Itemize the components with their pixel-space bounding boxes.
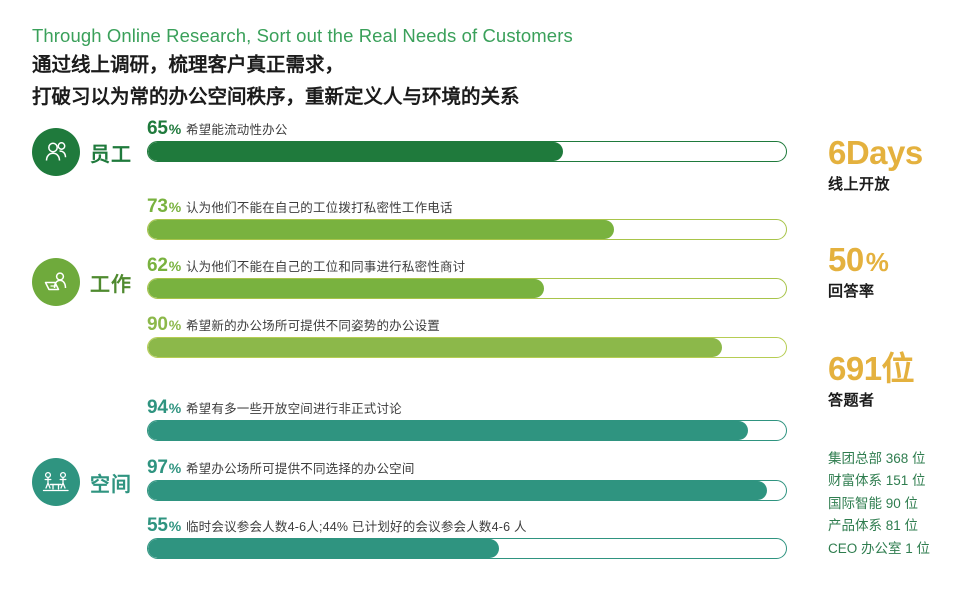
list-item: 国际智能 90 位	[828, 493, 930, 515]
list-item: 集团总部 368 位	[828, 448, 930, 470]
bar-row: 90% 希望新的办公场所可提供不同姿势的办公设置	[147, 314, 787, 358]
category-label-space: 空间	[90, 468, 132, 497]
bar-track	[147, 337, 787, 358]
category-label-employee: 员工	[90, 138, 132, 167]
bar-fill	[148, 220, 614, 239]
respondent-breakdown-list: 集团总部 368 位 财富体系 151 位 国际智能 90 位 产品体系 81 …	[828, 448, 930, 560]
desk-person-icon	[42, 268, 70, 296]
bar-percent: 97%	[147, 457, 181, 479]
bar-caption: 90% 希望新的办公场所可提供不同姿势的办公设置	[147, 314, 787, 334]
bar-percent: 94%	[147, 397, 181, 419]
bar-track	[147, 278, 787, 299]
bar-description: 临时会议参会人数4-6人;44% 已计划好的会议参会人数4-6 人	[186, 516, 527, 535]
bar-row: 65% 希望能流动性办公	[147, 118, 787, 162]
bar-row: 94% 希望有多一些开放空间进行非正式讨论	[147, 397, 787, 441]
chinese-title-line2: 打破习以为常的办公空间秩序，重新定义人与环境的关系	[32, 84, 752, 112]
category-space: 空间	[32, 458, 132, 506]
bar-track	[147, 219, 787, 240]
list-item: 财富体系 151 位	[828, 470, 930, 492]
list-item: 产品体系 81 位	[828, 515, 930, 537]
category-employee: 员工	[32, 128, 132, 176]
bar-description: 认为他们不能在自己的工位和同事进行私密性商讨	[186, 256, 465, 275]
bar-description: 认为他们不能在自己的工位拨打私密性工作电话	[186, 197, 453, 216]
bar-caption: 94% 希望有多一些开放空间进行非正式讨论	[147, 397, 787, 417]
english-title: Through Online Research, Sort out the Re…	[32, 24, 752, 48]
stat-days: 6Days 线上开放	[828, 136, 923, 194]
bar-row: 97% 希望办公场所可提供不同选择的办公空间	[147, 457, 787, 501]
bar-description: 希望办公场所可提供不同选择的办公空间	[186, 458, 415, 477]
page-header: Through Online Research, Sort out the Re…	[32, 24, 752, 111]
category-work: 工作	[32, 258, 132, 306]
stat-response-rate: 50% 回答率	[828, 243, 888, 301]
category-icon-circle	[32, 258, 80, 306]
bar-fill	[148, 421, 748, 440]
list-item: CEO 办公室 1 位	[828, 538, 930, 560]
category-icon-circle	[32, 128, 80, 176]
stat-value: 6Days	[828, 136, 923, 170]
bar-track	[147, 538, 787, 559]
stat-label: 答题者	[828, 389, 914, 410]
bar-percent: 65%	[147, 118, 181, 140]
bar-caption: 97% 希望办公场所可提供不同选择的办公空间	[147, 457, 787, 477]
stat-value: 50%	[828, 243, 888, 277]
bar-description: 希望有多一些开放空间进行非正式讨论	[186, 398, 402, 417]
bar-caption: 73% 认为他们不能在自己的工位拨打私密性工作电话	[147, 196, 787, 216]
people-icon	[42, 138, 70, 166]
bar-caption: 65% 希望能流动性办公	[147, 118, 787, 138]
meeting-room-icon	[40, 468, 72, 496]
bar-track	[147, 480, 787, 501]
stat-value: 691位	[828, 352, 914, 386]
bar-track	[147, 420, 787, 441]
stat-label: 回答率	[828, 280, 888, 301]
bar-row: 55% 临时会议参会人数4-6人;44% 已计划好的会议参会人数4-6 人	[147, 515, 787, 559]
bar-fill	[148, 338, 722, 357]
bar-percent: 90%	[147, 314, 181, 336]
chinese-title-line1: 通过线上调研，梳理客户真正需求，	[32, 52, 752, 80]
bar-description: 希望新的办公场所可提供不同姿势的办公设置	[186, 315, 440, 334]
category-label-work: 工作	[90, 268, 132, 297]
bar-fill	[148, 142, 563, 161]
bar-percent: 55%	[147, 515, 181, 537]
bar-percent: 62%	[147, 255, 181, 277]
bar-caption: 62% 认为他们不能在自己的工位和同事进行私密性商讨	[147, 255, 787, 275]
bar-track	[147, 141, 787, 162]
bar-fill	[148, 481, 767, 500]
bar-row: 73% 认为他们不能在自己的工位拨打私密性工作电话	[147, 196, 787, 240]
stat-respondents: 691位 答题者	[828, 352, 914, 410]
bar-fill	[148, 539, 499, 558]
bar-caption: 55% 临时会议参会人数4-6人;44% 已计划好的会议参会人数4-6 人	[147, 515, 787, 535]
stat-label: 线上开放	[828, 173, 923, 194]
bar-fill	[148, 279, 544, 298]
bar-percent: 73%	[147, 196, 181, 218]
bar-row: 62% 认为他们不能在自己的工位和同事进行私密性商讨	[147, 255, 787, 299]
bar-description: 希望能流动性办公	[186, 119, 288, 138]
category-icon-circle	[32, 458, 80, 506]
